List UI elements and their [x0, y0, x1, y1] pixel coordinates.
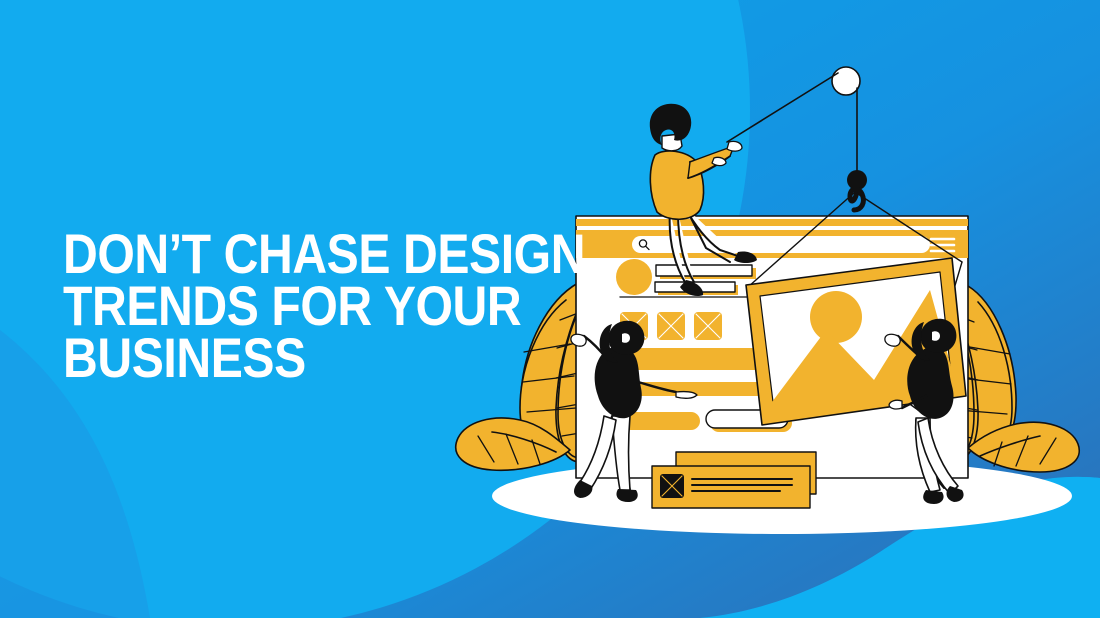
headline-line-2: TRENDS FOR YOUR — [63, 280, 467, 332]
stacked-notification-cards[interactable] — [652, 452, 816, 508]
page-title: DON’T CHASE DESIGN TRENDS FOR YOUR BUSIN… — [63, 228, 533, 384]
crane-rope — [727, 73, 838, 142]
pulley-wheel — [832, 67, 860, 95]
crane-hook — [847, 170, 867, 210]
sun-circle — [810, 291, 862, 343]
headline-line-3: BUSINESS — [63, 332, 467, 384]
banner-root: DON’T CHASE DESIGN TRENDS FOR YOUR BUSIN… — [0, 0, 1100, 618]
x-box-icon — [660, 474, 684, 498]
pulley-crane — [727, 67, 860, 172]
headline-line-1: DON’T CHASE DESIGN — [63, 228, 467, 280]
avatar-circle — [616, 259, 652, 295]
window-titlebar-strip — [576, 219, 968, 226]
